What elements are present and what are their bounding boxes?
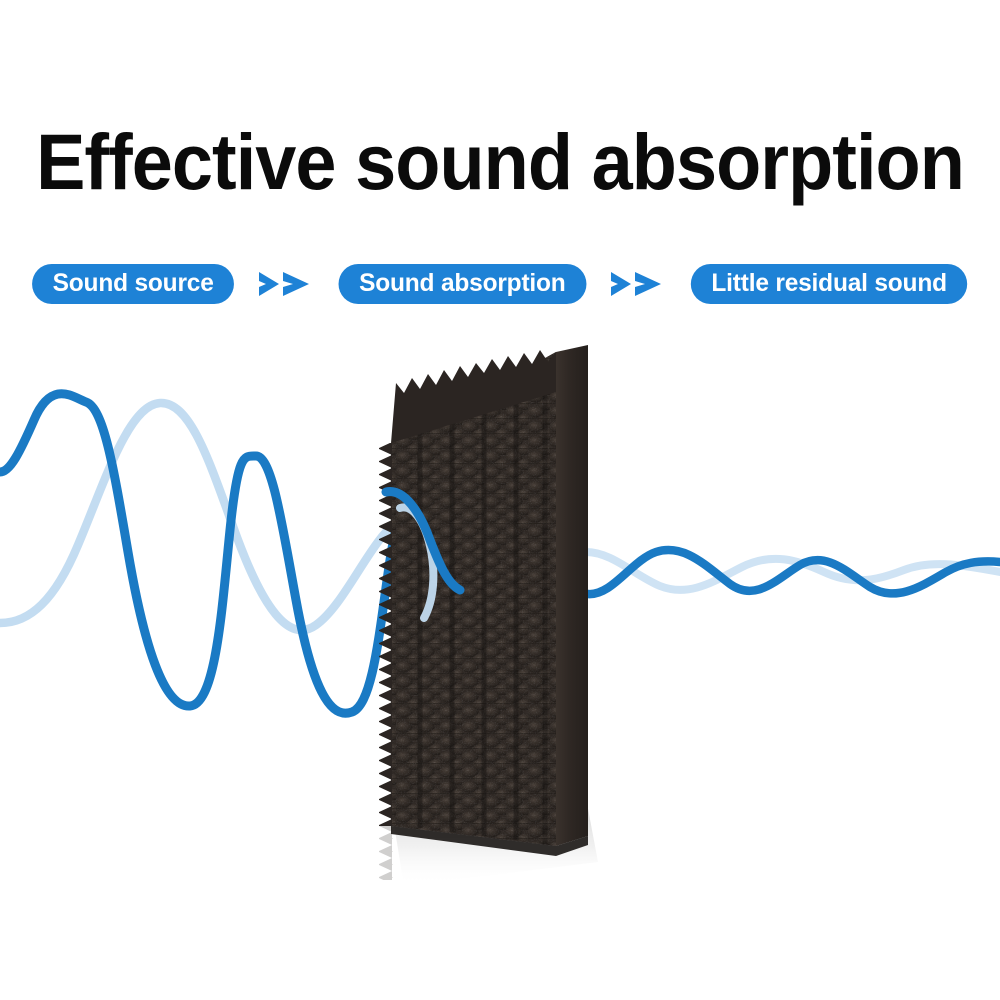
page-title: Effective sound absorption [33, 122, 968, 201]
acoustic-foam-panel [379, 345, 598, 886]
badge-sound-absorption-label: Sound absorption [359, 271, 565, 296]
sound-flow-steps: Sound source Sound absorption Little res… [30, 262, 970, 306]
badge-sound-source[interactable]: Sound source [32, 264, 234, 304]
badge-little-residual-sound-label: Little residual sound [711, 271, 946, 296]
badge-sound-absorption[interactable]: Sound absorption [338, 264, 586, 304]
foam-left-sawtooth [379, 443, 393, 826]
residual-sound-waves [586, 550, 1000, 594]
double-chevron-right-icon-1 [257, 269, 315, 299]
badge-little-residual-sound[interactable]: Little residual sound [691, 264, 968, 304]
residual-wave-primary [588, 550, 1000, 594]
foam-left-sawtooth-shadow [379, 820, 393, 880]
product-infographic: Effective sound absorption Sound source … [0, 0, 1000, 1000]
double-chevron-right-icon-2 [609, 269, 667, 299]
foam-back-edge [556, 345, 588, 846]
badge-sound-source-label: Sound source [53, 271, 214, 296]
